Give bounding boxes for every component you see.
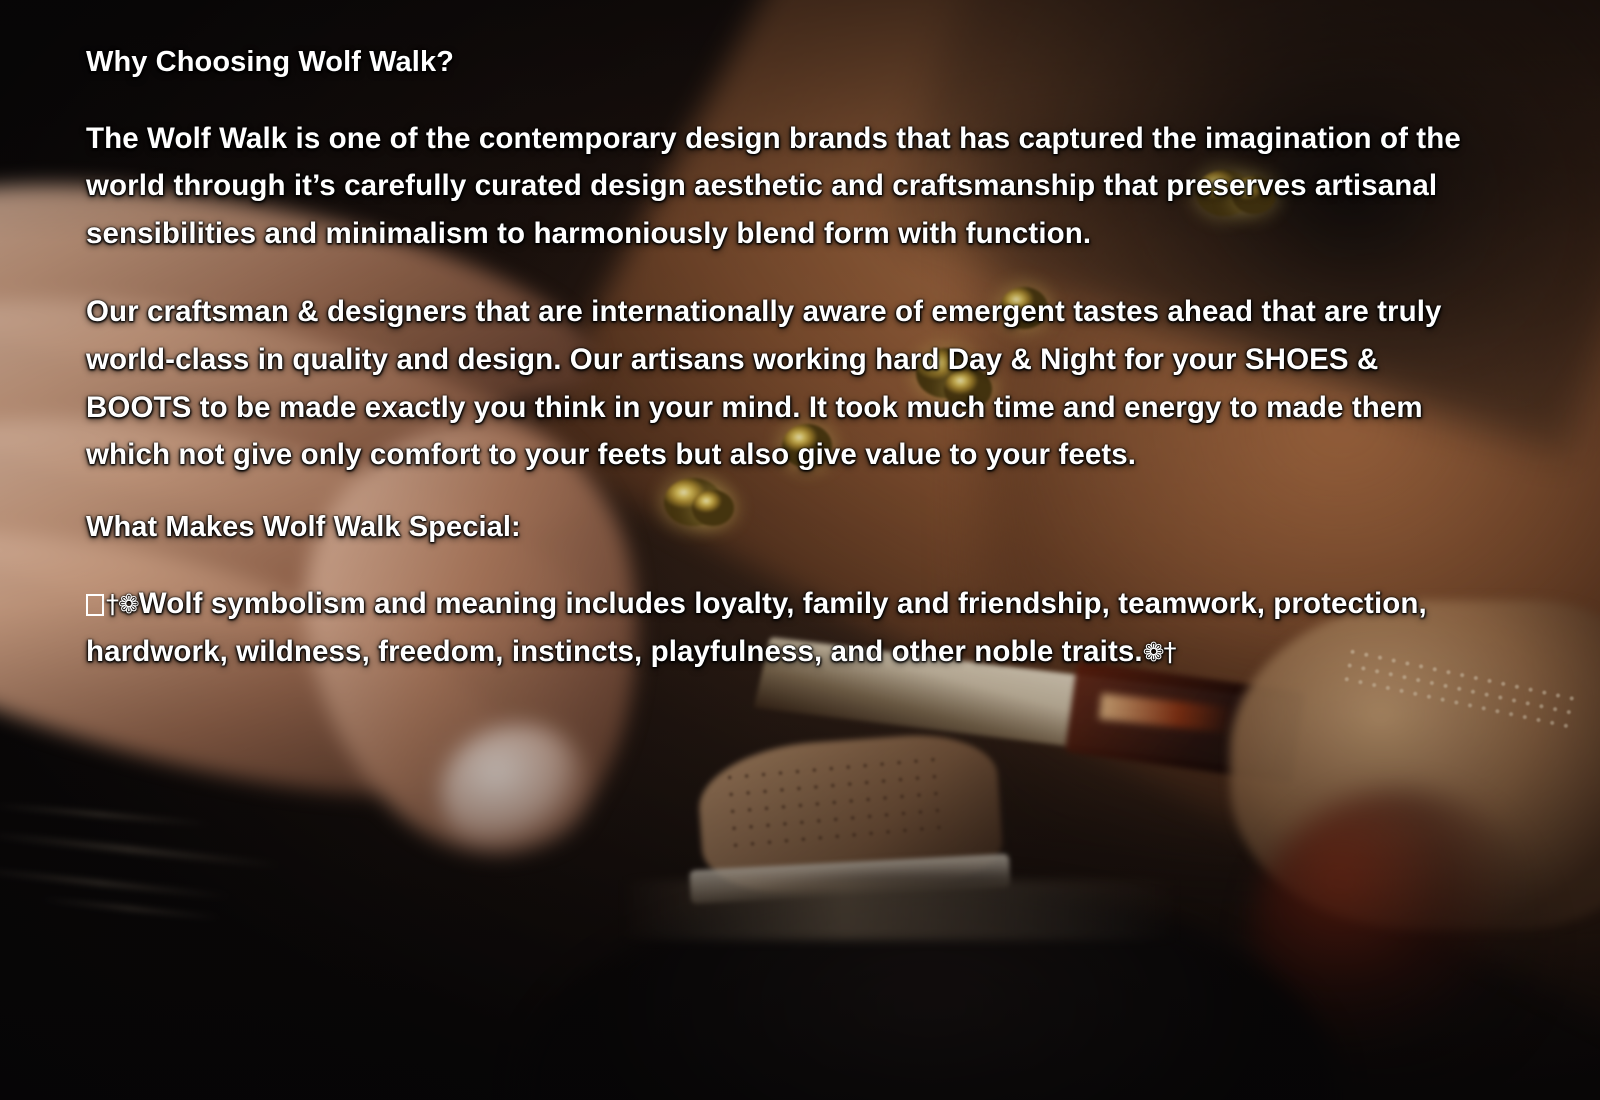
bullet-wolf-symbolism: †❁Wolf symbolism and meaning includes lo… — [86, 580, 1486, 676]
florette-glyph-icon: ❁† — [1143, 638, 1176, 668]
paragraph-brand-story: The Wolf Walk is one of the contemporary… — [86, 115, 1486, 258]
missing-glyph-box-icon — [86, 594, 104, 616]
paragraph-craftsmanship: Our craftsman & designers that are inter… — [86, 288, 1486, 479]
section-what-makes-special: What Makes Wolf Walk Special: †❁Wolf sym… — [86, 509, 1516, 675]
heading-why-choosing: Why Choosing Wolf Walk? — [86, 44, 1516, 82]
section-why-choosing: Why Choosing Wolf Walk? The Wolf Walk is… — [86, 44, 1516, 479]
bullet-text: Wolf symbolism and meaning includes loya… — [86, 587, 1427, 668]
heading-what-makes-special: What Makes Wolf Walk Special: — [86, 509, 1516, 547]
dagger-glyph-icon: †❁ — [106, 590, 139, 620]
description-content: Why Choosing Wolf Walk? The Wolf Walk is… — [86, 44, 1516, 675]
